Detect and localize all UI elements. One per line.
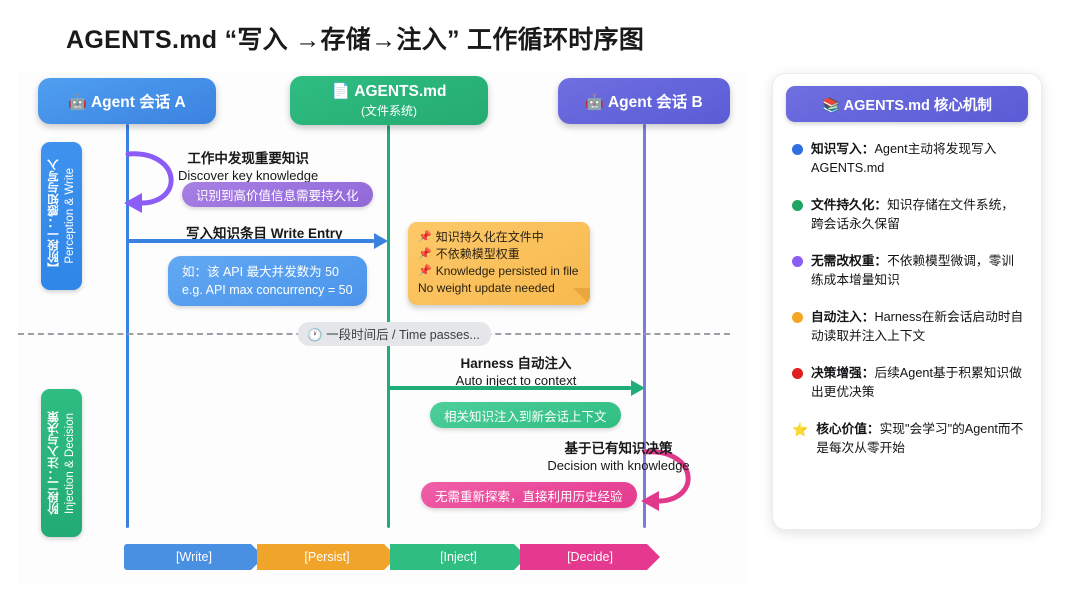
robot-icon: 🤖 <box>585 94 604 111</box>
note-text: No weight update needed <box>418 280 555 297</box>
legend-item: 自动注入：Harness在新会话启动时自动读取并注入上下文 <box>786 308 1028 346</box>
legend-term: 无需改权重： <box>811 254 887 268</box>
pill-discover: 识别到高价值信息需要持久化 <box>182 182 373 207</box>
clock-icon: 🕐 <box>307 328 323 342</box>
flow-step-inject[interactable]: [Inject] <box>390 544 527 570</box>
bubble-line-en: e.g. API max concurrency = 50 <box>182 281 353 299</box>
arrow-inject-head <box>631 380 645 396</box>
legend-item: 文件持久化：知识存储在文件系统，跨会话永久保留 <box>786 196 1028 234</box>
legend-item: 无需改权重：不依赖模型微调，零训练成本增量知识 <box>786 252 1028 290</box>
note-line: No weight update needed <box>418 280 580 297</box>
stage-label-en: Injection & Decision <box>64 413 76 514</box>
actor-agents-md-file[interactable]: 📄AGENTS.md (文件系统) <box>290 76 488 125</box>
message-label-decision: 基于已有知识决策 Decision with knowledge <box>497 440 740 474</box>
time-divider-text: 一段时间后 / Time passes... <box>326 328 480 342</box>
actor-agent-a[interactable]: 🤖Agent 会话 A <box>38 78 216 124</box>
document-icon: 📄 <box>332 83 351 100</box>
arrow-inject-line <box>388 386 631 390</box>
note-line: 📌 知识持久化在文件中 <box>418 229 580 246</box>
bubble-write-example: 如：该 API 最大并发数为 50 e.g. API max concurren… <box>168 256 367 306</box>
legend-term: 知识写入： <box>811 142 874 156</box>
flow-step-decide[interactable]: [Decide] <box>520 544 660 570</box>
bullet-dot-icon <box>792 144 803 155</box>
flow-step-persist[interactable]: [Persist] <box>257 544 397 570</box>
actor-label: Agent 会话 B <box>608 94 703 111</box>
diagram-root: AGENTS.md “写入 →存储→注入” 工作循环时序图 🤖Agent 会话 … <box>0 0 1080 603</box>
pin-icon: 📌 <box>418 229 432 246</box>
arrow-write-head <box>374 233 388 249</box>
star-icon: ⭐ <box>792 421 808 458</box>
bullet-dot-icon <box>792 312 803 323</box>
bullet-dot-icon <box>792 368 803 379</box>
stage-label-cn: 阶段二：注入与决策 <box>48 411 60 515</box>
robot-icon: 🤖 <box>68 94 87 111</box>
pin-icon: 📌 <box>418 263 432 280</box>
message-label-inject: Harness 自动注入 Auto inject to context <box>398 355 634 389</box>
note-line: 📌 不依赖模型权重 <box>418 246 580 263</box>
legend-item: ⭐ 核心价值：实现"会学习"的Agent而不是每次从零开始 <box>786 420 1028 458</box>
pill-inject: 相关知识注入到新会话上下文 <box>430 402 621 428</box>
actor-label: Agent 会话 A <box>91 94 186 111</box>
pill-decision: 无需重新探索，直接利用历史经验 <box>421 482 637 508</box>
stage-badge-injection-decision: 阶段二：注入与决策 Injection & Decision <box>41 389 82 537</box>
bullet-dot-icon <box>792 200 803 211</box>
arrow-write-line <box>126 239 374 243</box>
legend-term: 核心价值： <box>816 422 879 436</box>
legend-panel: 📚 AGENTS.md 核心机制 知识写入：Agent主动将发现写入AGENTS… <box>772 73 1042 530</box>
stage-badge-perception-write: 【阶段一：感知与写入 Perception & Write <box>41 142 82 290</box>
actor-label: AGENTS.md <box>354 83 446 100</box>
stage-label-cn: 【阶段一：感知与写入 <box>48 159 60 274</box>
legend-item: 知识写入：Agent主动将发现写入AGENTS.md <box>786 140 1028 178</box>
legend-item: 决策增强：后续Agent基于积累知识做出更优决策 <box>786 364 1028 402</box>
legend-term: 自动注入： <box>811 310 874 324</box>
page-title: AGENTS.md “写入 →存储→注入” 工作循环时序图 <box>66 20 644 56</box>
legend-term: 文件持久化： <box>811 198 887 212</box>
flow-step-write[interactable]: [Write] <box>124 544 264 570</box>
pin-icon: 📌 <box>418 246 432 263</box>
note-line: 📌 Knowledge persisted in file <box>418 263 580 280</box>
bubble-line-cn: 如：该 API 最大并发数为 50 <box>182 263 353 281</box>
bullet-dot-icon <box>792 256 803 267</box>
legend-term: 决策增强： <box>811 366 874 380</box>
flow-bar: [Write] [Persist] [Inject] [Decide] <box>124 544 653 570</box>
note-text: Knowledge persisted in file <box>436 263 579 280</box>
stage-label-en: Perception & Write <box>64 168 76 264</box>
time-divider-chip: 🕐 一段时间后 / Time passes... <box>298 322 491 346</box>
actor-sublabel: (文件系统) <box>361 102 417 119</box>
legend-title: 📚 AGENTS.md 核心机制 <box>786 86 1028 122</box>
actor-agent-b[interactable]: 🤖Agent 会话 B <box>558 78 730 124</box>
note-persistence: 📌 知识持久化在文件中 📌 不依赖模型权重 📌 Knowledge persis… <box>408 222 590 305</box>
note-text: 不依赖模型权重 <box>436 246 520 263</box>
message-label-discover: 工作中发现重要知识 Discover key knowledge <box>178 150 318 184</box>
note-text: 知识持久化在文件中 <box>436 229 544 246</box>
